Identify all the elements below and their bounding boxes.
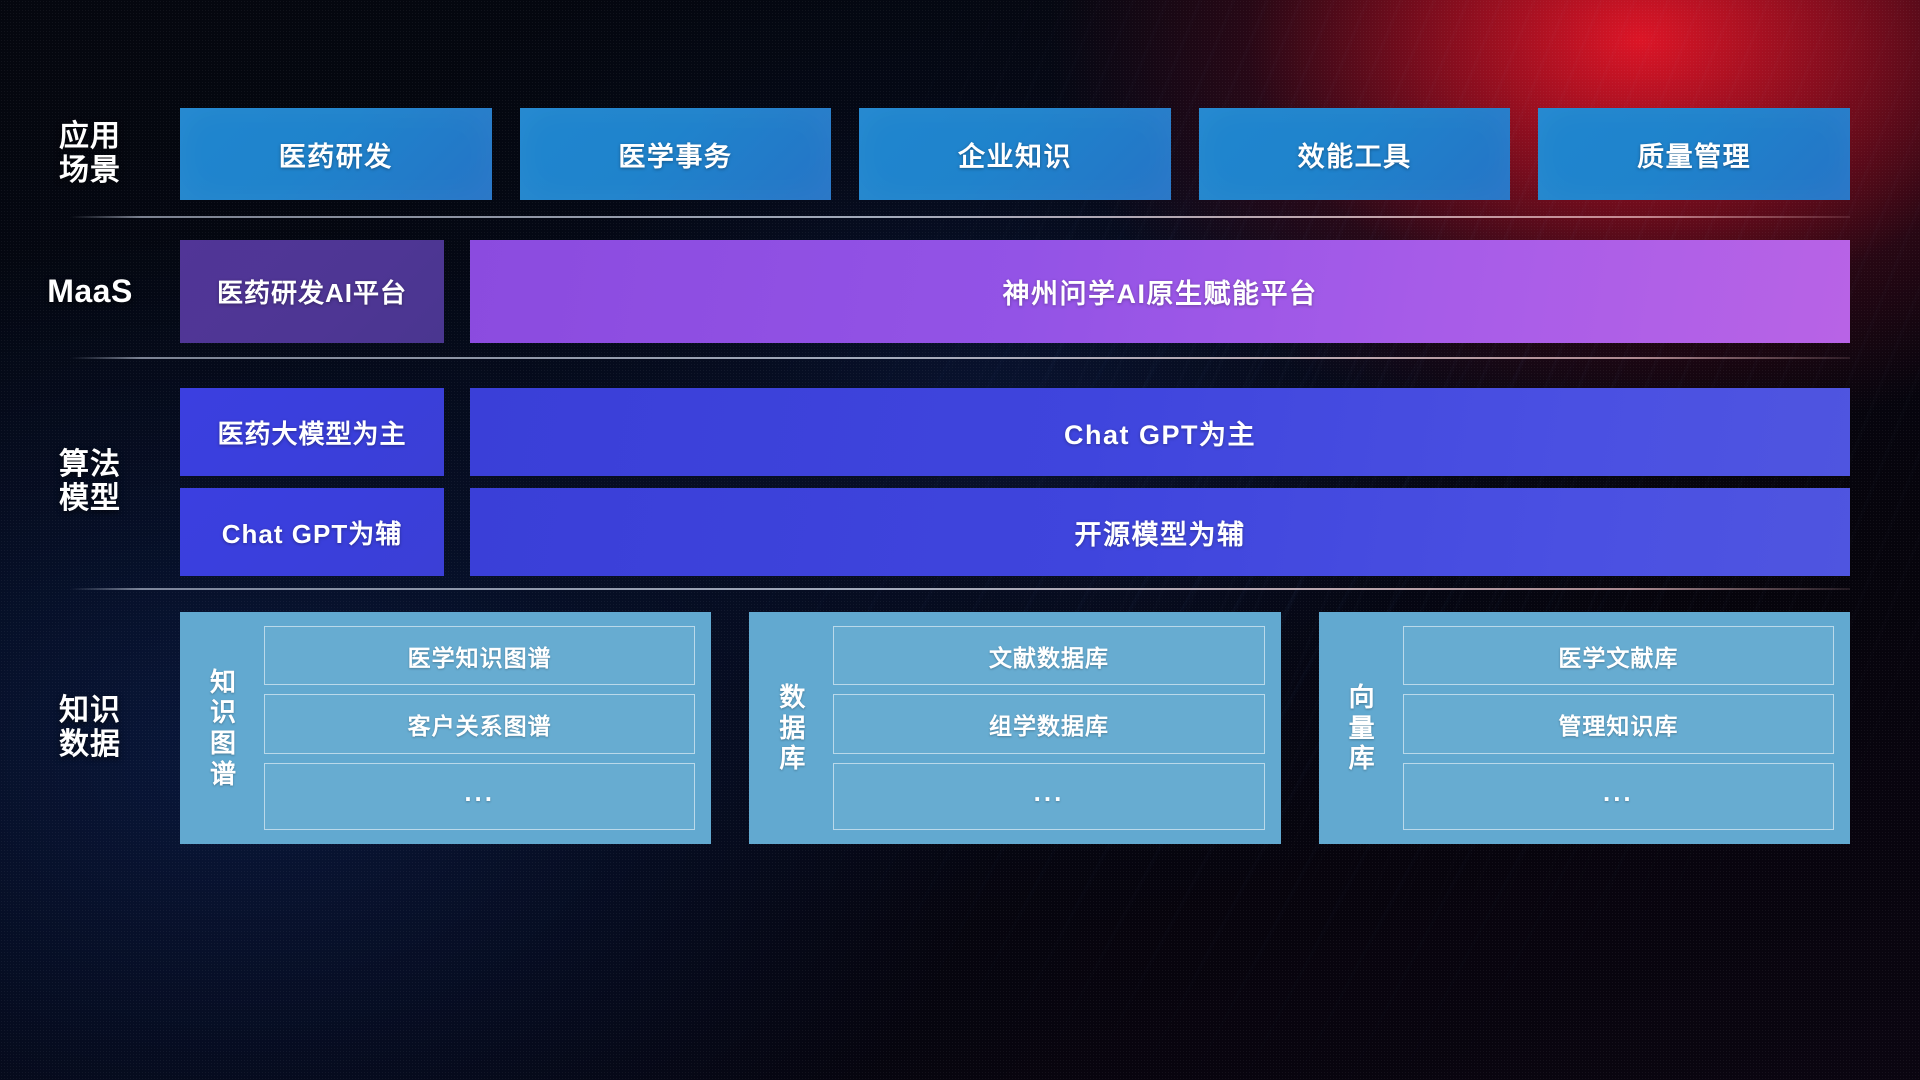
knowledge-item-more-database[interactable]: ... [833, 763, 1264, 830]
app-box-medical-affairs[interactable]: 医学事务 [520, 108, 832, 200]
knowledge-item-more-vector-store[interactable]: ... [1403, 763, 1834, 830]
maas-box-drug-rd-ai-platform[interactable]: 医药研发AI平台 [180, 240, 444, 343]
knowledge-item-management-knowledge-store[interactable]: 管理知识库 [1403, 694, 1834, 753]
algorithm-line-secondary: Chat GPT为辅 开源模型为辅 [180, 488, 1850, 576]
app-box-enterprise-knowledge[interactable]: 企业知识 [859, 108, 1171, 200]
maas-row: MaaS 医药研发AI平台 神州问学AI原生赋能平台 [0, 240, 1920, 343]
algorithm-models-row: 算法 模型 医药大模型为主 Chat GPT为主 Chat GPT为辅 开源模型… [0, 378, 1920, 586]
knowledge-items-database: 文献数据库 组学数据库 ... [821, 626, 1264, 830]
knowledge-item-medical-literature-store[interactable]: 医学文献库 [1403, 626, 1834, 685]
knowledge-panels-container: 知识图谱 医学知识图谱 客户关系图谱 ... 数据库 文献数据库 组学数据库 .… [180, 612, 1920, 844]
knowledge-data-row: 知识 数据 知识图谱 医学知识图谱 客户关系图谱 ... 数据库 文献数据库 组… [0, 612, 1920, 844]
maas-box-shenzhou-wenxue-platform[interactable]: 神州问学AI原生赋能平台 [470, 240, 1850, 343]
knowledge-item-more-knowledge-graph[interactable]: ... [264, 763, 695, 830]
divider-algorithms-knowledge [70, 588, 1850, 590]
divider-maas-algorithms [70, 357, 1850, 359]
algo-box-opensource-secondary[interactable]: 开源模型为辅 [470, 488, 1850, 576]
algo-box-chatgpt-secondary[interactable]: Chat GPT为辅 [180, 488, 444, 576]
application-boxes-container: 医药研发 医学事务 企业知识 效能工具 质量管理 [180, 108, 1920, 200]
knowledge-item-literature-database[interactable]: 文献数据库 [833, 626, 1264, 685]
algorithm-line-primary: 医药大模型为主 Chat GPT为主 [180, 388, 1850, 476]
app-box-quality-management[interactable]: 质量管理 [1538, 108, 1850, 200]
knowledge-item-medical-knowledge-graph[interactable]: 医学知识图谱 [264, 626, 695, 685]
row-label-algorithms: 算法 模型 [0, 448, 180, 516]
knowledge-panel-label-database: 数据库 [763, 626, 821, 830]
knowledge-item-omics-database[interactable]: 组学数据库 [833, 694, 1264, 753]
slide-stage: 应用 场景 医药研发 医学事务 企业知识 效能工具 质量管理 MaaS 医药研发… [0, 0, 1920, 1080]
app-box-drug-rd[interactable]: 医药研发 [180, 108, 492, 200]
row-label-knowledge: 知识 数据 [0, 694, 180, 762]
knowledge-panel-label-vector-store: 向量库 [1333, 626, 1391, 830]
divider-applications-maas [70, 216, 1850, 218]
knowledge-panel-database[interactable]: 数据库 文献数据库 组学数据库 ... [749, 612, 1280, 844]
app-box-efficiency-tools[interactable]: 效能工具 [1199, 108, 1511, 200]
row-label-applications: 应用 场景 [0, 120, 180, 188]
knowledge-items-vector-store: 医学文献库 管理知识库 ... [1391, 626, 1834, 830]
knowledge-panel-knowledge-graph[interactable]: 知识图谱 医学知识图谱 客户关系图谱 ... [180, 612, 711, 844]
knowledge-panel-vector-store[interactable]: 向量库 医学文献库 管理知识库 ... [1319, 612, 1850, 844]
knowledge-items-knowledge-graph: 医学知识图谱 客户关系图谱 ... [252, 626, 695, 830]
application-scenarios-row: 应用 场景 医药研发 医学事务 企业知识 效能工具 质量管理 [0, 108, 1920, 200]
algo-box-medical-llm-primary[interactable]: 医药大模型为主 [180, 388, 444, 476]
row-label-maas: MaaS [0, 273, 180, 309]
knowledge-item-customer-relation-graph[interactable]: 客户关系图谱 [264, 694, 695, 753]
algo-box-chatgpt-primary[interactable]: Chat GPT为主 [470, 388, 1850, 476]
algorithm-boxes-container: 医药大模型为主 Chat GPT为主 Chat GPT为辅 开源模型为辅 [180, 388, 1920, 576]
knowledge-panel-label-knowledge-graph: 知识图谱 [194, 626, 252, 830]
maas-boxes-container: 医药研发AI平台 神州问学AI原生赋能平台 [180, 240, 1920, 343]
